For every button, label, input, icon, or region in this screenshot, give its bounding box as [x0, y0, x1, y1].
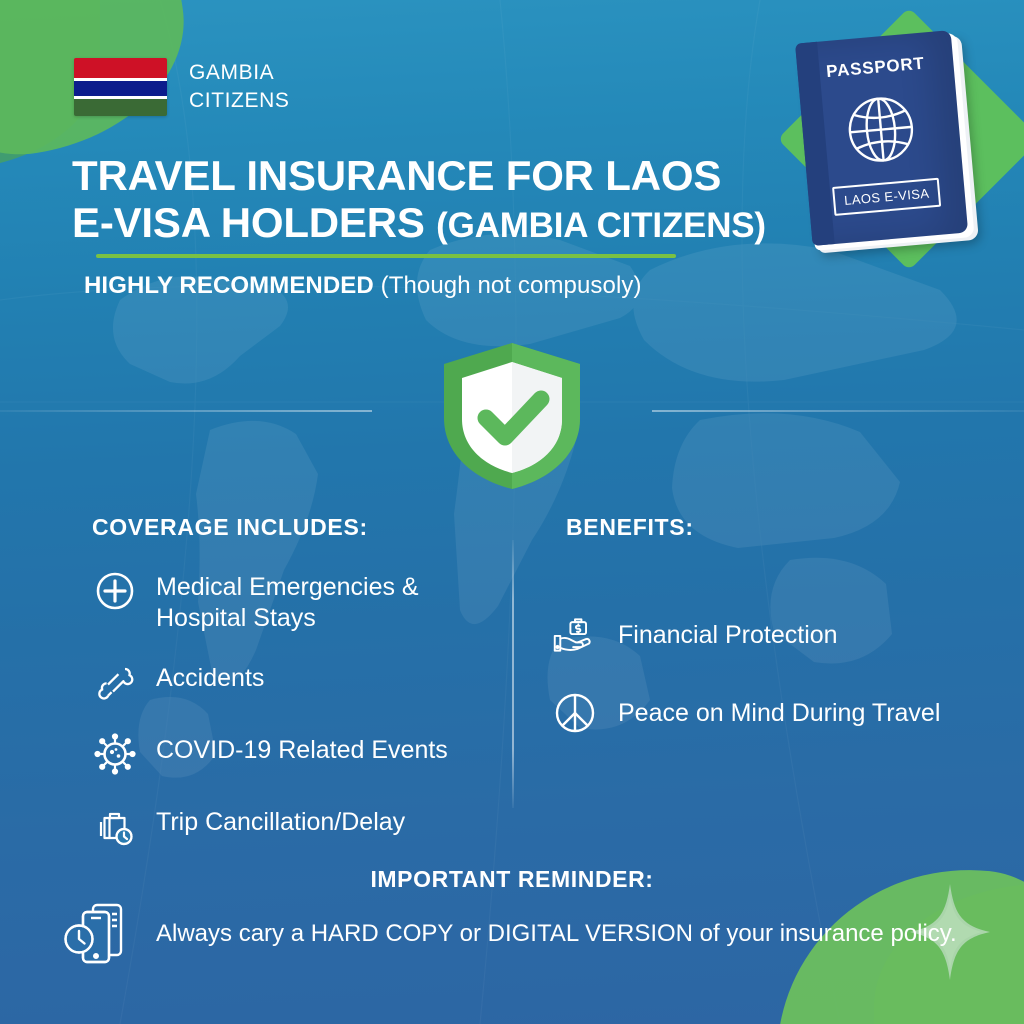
- list-item: Peace on Mind During Travel: [552, 690, 992, 736]
- hand-money-briefcase-icon: [552, 612, 598, 658]
- coverage-heading: COVERAGE INCLUDES:: [92, 514, 368, 541]
- passport-title: PASSPORT: [797, 51, 954, 85]
- benefits-list: Financial Protection Peace on Mind Durin…: [552, 612, 992, 768]
- page-title: TRAVEL INSURANCE FOR LAOS E-VISA HOLDERS…: [72, 152, 812, 246]
- column-divider: [512, 540, 514, 808]
- list-item: Medical Emergencies & Hospital Stays: [92, 568, 492, 633]
- divider-right: [652, 410, 1024, 412]
- visa-stamp: LAOS E-VISA: [832, 178, 941, 216]
- benefits-heading: BENEFITS:: [566, 514, 694, 541]
- globe-icon: [839, 87, 924, 172]
- list-item-label: Peace on Mind During Travel: [618, 698, 940, 729]
- bone-fracture-icon: [92, 659, 138, 705]
- list-item-label: Financial Protection: [618, 620, 838, 651]
- list-item-label: Trip Cancillation/Delay: [156, 803, 405, 838]
- gambia-flag-icon: [74, 58, 167, 116]
- list-item-label: COVID-19 Related Events: [156, 731, 448, 766]
- passport-illustration: PASSPORT LAOS E-VISA: [795, 29, 981, 255]
- list-item: COVID-19 Related Events: [92, 731, 492, 777]
- list-item-label: Accidents: [156, 659, 264, 694]
- phone-clock-icon: [62, 898, 134, 970]
- country-line-1: GAMBIA: [189, 59, 289, 87]
- list-item: Financial Protection: [552, 612, 992, 658]
- reminder-text: Always cary a HARD COPY or DIGITAL VERSI…: [156, 920, 957, 948]
- medical-plus-circle-icon: [92, 568, 138, 614]
- divider-left: [0, 410, 372, 412]
- subtitle-bold: HIGHLY RECOMMENDED: [84, 272, 381, 299]
- country-line-2: CITIZENS: [189, 87, 289, 115]
- title-line-1: TRAVEL INSURANCE FOR LAOS: [72, 152, 812, 199]
- coverage-list: Medical Emergencies & Hospital Stays Acc…: [92, 568, 492, 875]
- subtitle: HIGHLY RECOMMENDED (Though not compusoly…: [84, 272, 642, 300]
- passport-front-cover: PASSPORT LAOS E-VISA: [795, 30, 968, 246]
- list-item-label: Medical Emergencies & Hospital Stays: [156, 568, 492, 633]
- title-line-2: E-VISA HOLDERS (GAMBIA CITIZENS): [72, 199, 812, 246]
- title-line-2-main: E-VISA HOLDERS: [72, 199, 436, 246]
- list-item: Trip Cancillation/Delay: [92, 803, 492, 849]
- title-accent-rule: [96, 254, 676, 258]
- country-badge: GAMBIA CITIZENS: [74, 58, 289, 116]
- country-label: GAMBIA CITIZENS: [189, 59, 289, 114]
- title-line-2-paren: (GAMBIA CITIZENS): [436, 206, 766, 245]
- peace-symbol-icon: [552, 690, 598, 736]
- subtitle-regular: (Though not compusoly): [381, 272, 642, 299]
- virus-icon: [92, 731, 138, 777]
- shield-check-icon: [438, 340, 586, 492]
- list-item: Accidents: [92, 659, 492, 705]
- infographic-poster: GAMBIA CITIZENS TRAVEL INSURANCE FOR LAO…: [0, 0, 1024, 1024]
- suitcase-clock-icon: [92, 803, 138, 849]
- reminder-row: Always cary a HARD COPY or DIGITAL VERSI…: [62, 898, 962, 970]
- reminder-heading: IMPORTANT REMINDER:: [0, 866, 1024, 893]
